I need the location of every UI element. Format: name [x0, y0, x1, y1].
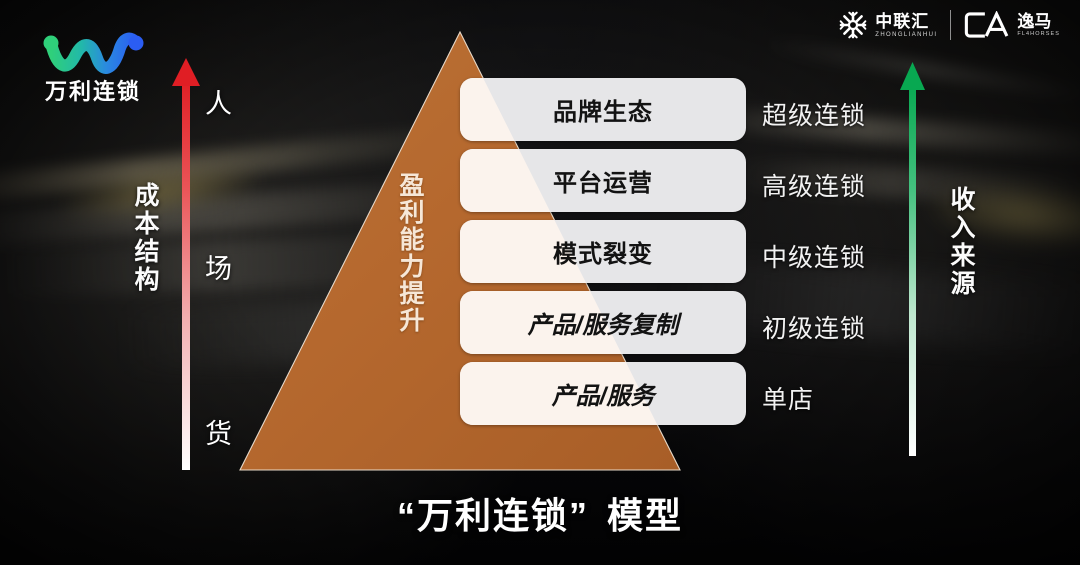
partner-name-cn: 逸马 [1017, 13, 1060, 30]
pyramid-level-band[interactable]: 产品/服务复制 [460, 291, 746, 354]
tier-label: 初级连锁 [762, 309, 866, 345]
pyramid-level-label: 品牌生态 [460, 78, 746, 141]
w-wave-logo-icon [41, 32, 145, 78]
axis-item-chang: 场 [205, 247, 232, 286]
revenue-source-label: 收入来源 [943, 186, 979, 298]
pyramid-level-band[interactable]: 产品/服务 [460, 362, 746, 425]
logo-divider [950, 10, 951, 40]
partner-name-en: ZHONGLIANHUI [875, 32, 937, 38]
axis-item-ren: 人 [205, 82, 232, 121]
slide-canvas: 万利连锁 中联汇 ZHONGL [0, 0, 1080, 565]
brand-logo-wanli-text: 万利连锁 [30, 81, 156, 103]
partner-logo-zhonglianhui-text: 中联汇 ZHONGLIANHUI [875, 13, 937, 38]
partner-logos: 中联汇 ZHONGLIANHUI 逸马 FL4HORSES [838, 10, 1060, 40]
snowflake-icon [838, 10, 868, 40]
page-title: “万利连锁”模型 [0, 487, 1080, 539]
pyramid-level-label: 平台运营 [460, 149, 746, 212]
tier-label: 高级连锁 [762, 167, 866, 203]
pyramid-level-band[interactable]: 平台运营 [460, 149, 746, 212]
page-title-suffix: 模型 [607, 495, 683, 536]
brand-logo-wanli: 万利连锁 [30, 32, 156, 103]
cost-structure-label: 成本结构 [127, 182, 163, 294]
partner-name-en: FL4HORSES [1017, 32, 1060, 38]
pyramid-level-band[interactable]: 品牌生态 [460, 78, 746, 141]
pyramid-level-label: 模式裂变 [460, 220, 746, 283]
pyramid-level-label: 产品/服务 [460, 362, 746, 425]
pyramid-level-band[interactable]: 模式裂变 [460, 220, 746, 283]
pyramid-level-label: 产品/服务复制 [460, 291, 746, 354]
partner-name-cn: 中联汇 [875, 13, 937, 30]
partner-logo-yima: 逸马 FL4HORSES [964, 11, 1060, 39]
page-title-quoted: “万利连锁” [397, 495, 589, 536]
partner-logo-zhonglianhui: 中联汇 ZHONGLIANHUI [838, 10, 937, 40]
tier-label: 超级连锁 [762, 96, 866, 132]
pyramid-side-label: 盈利能力提升 [392, 172, 428, 334]
axis-item-huo: 货 [205, 412, 232, 451]
tier-label: 中级连锁 [762, 238, 866, 274]
ca-monogram-icon [964, 11, 1010, 39]
tier-label: 单店 [762, 380, 814, 416]
partner-logo-yima-text: 逸马 FL4HORSES [1017, 13, 1060, 38]
